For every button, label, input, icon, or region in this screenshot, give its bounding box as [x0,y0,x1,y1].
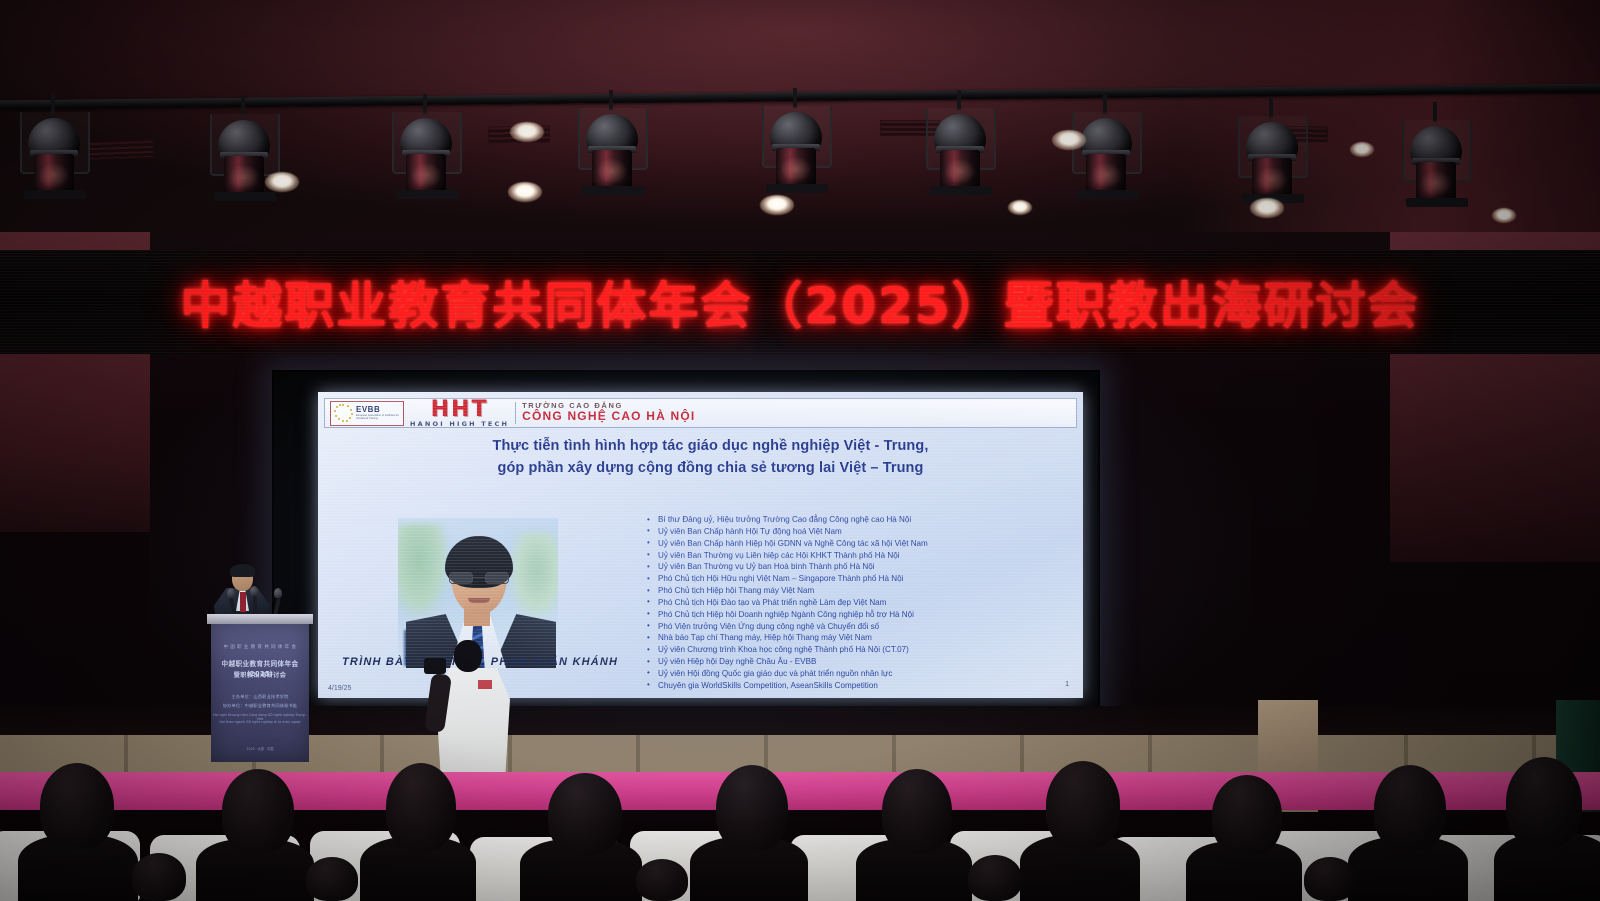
audience-member [132,853,186,901]
ceiling-downlight [1008,200,1032,215]
podium-line-1: 中 国 职 业 教 育 共 同 体 年 会 [211,644,309,650]
list-item: Chuyên gia WorldSkills Competition, Asea… [644,680,1077,692]
list-item: Uỷ viên Chương trình Khoa học công nghệ … [644,644,1077,656]
ceiling-downlight [508,182,542,202]
cameraman-silhouette [430,640,516,770]
hht-logo: HHT HANOI HIGH TECH [410,399,509,428]
list-item: Uỷ viên Ban Chấp hành Hiệp hội GDNN và N… [644,538,1077,550]
audience [0,760,1600,901]
list-item: Phó Chủ tịch Hiệp hội Doanh nghiệp Ngành… [644,609,1077,621]
stage-spotlight [1400,118,1474,222]
ceiling-downlight [1492,208,1516,223]
list-item: Uỷ viên Ban Thường vụ Uỷ ban Hoà bình Th… [644,561,1077,573]
audience-member [1374,765,1446,851]
slide-page-number: 1 [1065,681,1069,688]
list-item: Uỷ viên Ban Chấp hành Hội Tự động hoá Vi… [644,526,1077,538]
list-item: Uỷ viên Hội đồng Quốc gia giáo dục và ph… [644,668,1077,680]
audience-member [222,769,294,853]
stage-spotlight [576,106,650,210]
ceiling-downlight [1250,198,1284,218]
header-divider [515,402,516,424]
evbb-subtitle: European Association of Institutes for V… [356,414,401,421]
podium-line-7: Hoi thao nganh GD nghe nghiep di ra nuoc… [211,720,309,724]
list-item: Phó Chủ tịch Hiệp hội Thang máy Việt Nam [644,585,1077,597]
list-item: Phó Chủ tịch Hội Hữu nghị Việt Nam – Sin… [644,573,1077,585]
list-item: Phó Chủ tịch Hội Đào tạo và Phát triển n… [644,597,1077,609]
podium-line-5: 协办单位：中越职业教育共同体秘书处 [211,703,309,709]
slide-bullet-list: Bí thư Đảng uỷ, Hiệu trưởng Trường Cao đ… [644,514,1077,692]
audience-member [1046,761,1120,849]
ceiling-downlight [265,172,299,192]
audience-member [716,765,788,851]
audience-member [1212,775,1282,855]
list-item: Nhà báo Tạp chí Thang máy, Hiệp hội Than… [644,632,1077,644]
camera-icon [424,658,446,674]
audience-member [882,769,952,853]
projection-screen: EVBB European Association of Institutes … [272,370,1100,720]
ceiling-vent [88,140,155,160]
podium-line-3: 暨职教出海研讨会 [211,670,309,679]
ceiling-downlight [760,195,794,215]
audience-member [1304,857,1356,901]
glasses-icon [449,572,509,584]
led-banner-text: 中越职业教育共同体年会（2025）暨职教出海研讨会 [180,266,1419,338]
slide-title: Thực tiễn tình hình hợp tác giáo dục ngh… [358,436,1063,479]
audience-member [548,773,622,855]
slide-header: EVBB European Association of Institutes … [324,398,1077,428]
ceiling-downlight [510,122,544,142]
list-item: Uỷ viên Ban Thường vụ Liên hiệp các Hội … [644,550,1077,562]
podium-line-4: 主办单位：山西职业技术学院 [211,694,309,700]
microphone-head [250,586,258,596]
audience-member [968,855,1022,901]
eu-stars-icon [333,403,353,423]
podium-line-8: 2025 · 太原 · 中国 [211,746,309,751]
audience-member [636,859,688,901]
list-item: Phó Viện trưởng Viện Ứng dụng công nghệ … [644,621,1077,633]
slide-title-line-2: góp phần xây dựng cộng đồng chia sẻ tươn… [358,458,1063,479]
microphone-head [227,588,235,598]
podium: 中 国 职 业 教 育 共 同 体 年 会 中越职业教育共同体年会（2025） … [207,614,313,762]
audience-member [40,763,114,849]
stage-spotlight [18,110,92,214]
list-item: Uỷ viên Hiệp hội Dạy nghề Châu Âu - EVBB [644,656,1077,668]
evbb-name: EVBB [356,406,401,414]
hht-tagline: HANOI HIGH TECH [410,421,509,428]
slide-date: 4/19/25 [328,685,351,692]
slide-title-line-1: Thực tiễn tình hình hợp tác giáo dục ngh… [358,436,1063,457]
stage-spotlight [760,104,834,208]
list-item: Bí thư Đảng uỷ, Hiệu trưởng Trường Cao đ… [644,514,1077,526]
podium-banner: 中 国 职 业 教 育 共 同 体 年 会 中越职业教育共同体年会（2025） … [211,624,309,762]
hht-wordmark: HHT [431,399,489,421]
stage-spotlight [1070,110,1144,214]
evbb-logo: EVBB European Association of Institutes … [330,401,404,426]
auditorium-scene: 中越职业教育共同体年会（2025）暨职教出海研讨会 EVBB Eu [0,0,1600,901]
ceiling-downlight [1052,130,1086,150]
audience-member [306,857,358,901]
stage-spotlight [924,106,998,210]
stage-spotlight [208,112,282,216]
microphone-head [274,588,282,598]
podium-top [207,614,313,624]
ceiling-downlight [1350,142,1374,157]
school-line-2: CÔNG NGHỆ CAO HÀ NỘI [522,410,695,424]
led-banner: 中越职业教育共同体年会（2025）暨职教出海研讨会 [0,250,1600,354]
microphone [253,596,257,616]
audience-member [386,763,456,851]
stage-spotlight [390,110,464,214]
audience-member [1506,757,1582,847]
